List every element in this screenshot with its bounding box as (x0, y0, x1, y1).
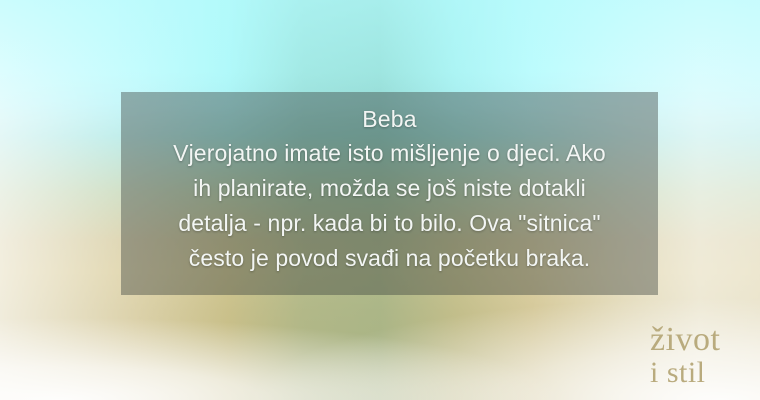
quote-card: Beba Vjerojatno imate isto mišljenje o d… (0, 0, 760, 400)
brand-logo: život i stil (650, 323, 742, 388)
quote-body-text: Vjerojatno imate isto mišljenje o djeci.… (171, 136, 608, 276)
brand-logo-line-1: život (650, 323, 742, 357)
quote-title: Beba (362, 102, 417, 136)
quote-overlay-panel: Beba Vjerojatno imate isto mišljenje o d… (121, 92, 658, 295)
brand-logo-line-2: i stil (650, 358, 742, 388)
